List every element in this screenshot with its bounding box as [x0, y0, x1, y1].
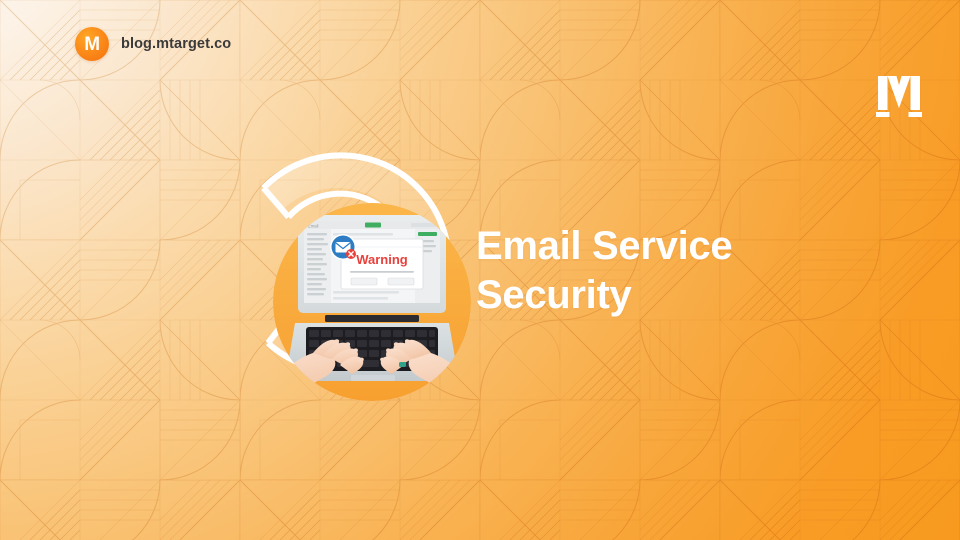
brand-lockup[interactable]: M blog.mtarget.co	[75, 27, 231, 61]
brand-url-label: blog.mtarget.co	[121, 36, 231, 52]
page-title-line-2: Security	[476, 271, 876, 320]
brand-badge-letter: M	[84, 35, 100, 54]
laptop-warning-illustration: Email	[273, 203, 471, 401]
mtarget-wordmark-icon	[876, 72, 922, 120]
page-title-line-1: Email Service	[476, 222, 876, 271]
svg-text:Email: Email	[308, 224, 319, 229]
page-title: Email Service Security	[476, 222, 876, 320]
slide-canvas: M blog.mtarget.co	[0, 0, 960, 540]
svg-text:Warning: Warning	[356, 252, 408, 267]
hero-graphic: Email	[208, 138, 466, 396]
mtarget-logo-badge: M	[75, 27, 109, 61]
